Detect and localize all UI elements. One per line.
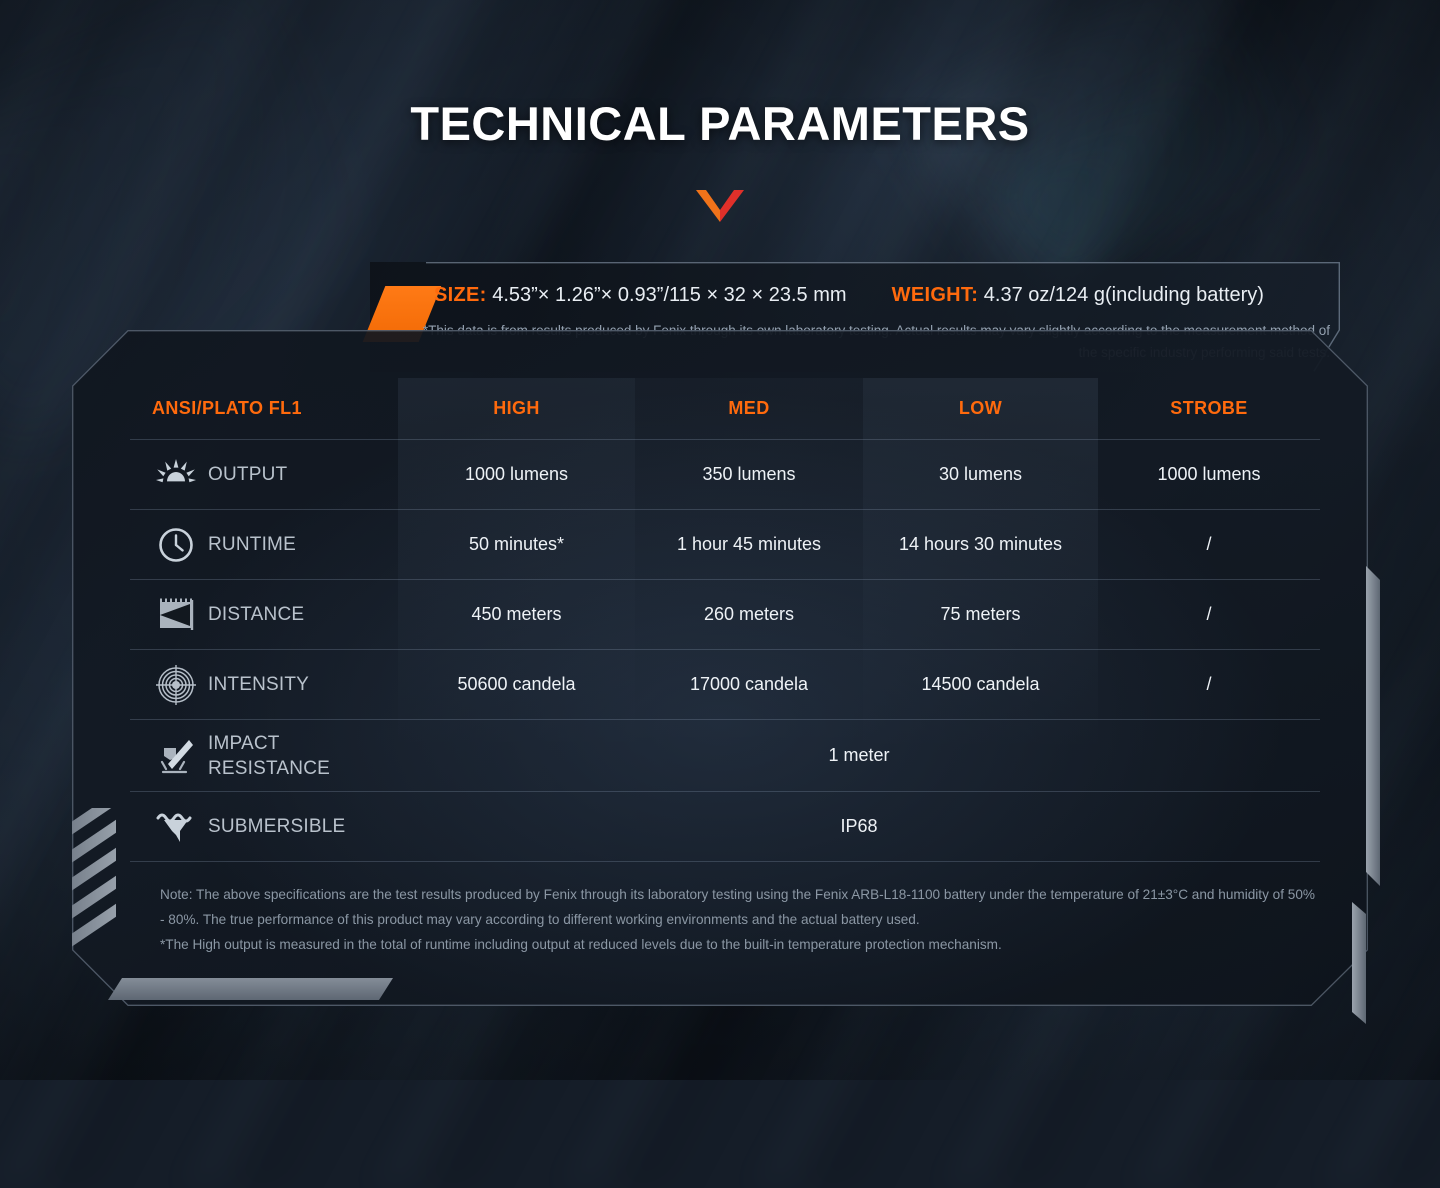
decorative-right-bar-upper bbox=[1366, 566, 1380, 886]
column-header-med: MED bbox=[635, 398, 863, 419]
row-label-distance: DISTANCE bbox=[130, 593, 398, 637]
size-value: 4.53”× 1.26”× 0.93”/115 × 32 × 23.5 mm bbox=[492, 284, 846, 306]
impact-drop-icon bbox=[144, 734, 208, 778]
footnote-line-1: Note: The above specifications are the t… bbox=[160, 882, 1315, 932]
cell-distance-low: 75 meters bbox=[863, 604, 1098, 625]
weight-label: WEIGHT: bbox=[892, 284, 979, 306]
specifications-panel: ANSI/PLATO FL1 HIGH MED LOW STROBE bbox=[72, 330, 1368, 1006]
table-row: INTENSITY 50600 candela 17000 candela 14… bbox=[130, 650, 1320, 720]
cell-output-low: 30 lumens bbox=[863, 464, 1098, 485]
submersible-icon bbox=[144, 805, 208, 849]
cell-intensity-high: 50600 candela bbox=[398, 674, 635, 695]
row-label-intensity: INTENSITY bbox=[130, 663, 398, 707]
cell-runtime-strobe: / bbox=[1098, 534, 1320, 555]
clock-icon bbox=[144, 523, 208, 567]
table-row: SUBMERSIBLE IP68 bbox=[130, 792, 1320, 862]
target-intensity-icon bbox=[144, 663, 208, 707]
row-label-text: DISTANCE bbox=[208, 602, 304, 627]
column-header-low: LOW bbox=[863, 398, 1098, 419]
row-label-text: RUNTIME bbox=[208, 532, 296, 557]
cell-intensity-med: 17000 candela bbox=[635, 674, 863, 695]
page-title: TECHNICAL PARAMETERS bbox=[0, 96, 1440, 151]
impact-label-line1: IMPACT bbox=[208, 733, 280, 754]
cell-output-high: 1000 lumens bbox=[398, 464, 635, 485]
decorative-hash-stripes bbox=[72, 808, 116, 948]
footnote-line-2: *The High output is measured in the tota… bbox=[160, 932, 1315, 957]
decorative-right-bar-lower bbox=[1352, 902, 1366, 1024]
cell-distance-strobe: / bbox=[1098, 604, 1320, 625]
beam-distance-icon bbox=[144, 593, 208, 637]
row-label-impact-resistance: IMPACT RESISTANCE bbox=[130, 731, 398, 781]
cell-output-med: 350 lumens bbox=[635, 464, 863, 485]
weight-value: 4.37 oz/124 g(including battery) bbox=[984, 284, 1264, 306]
cell-runtime-low: 14 hours 30 minutes bbox=[863, 534, 1098, 555]
table-row: IMPACT RESISTANCE 1 meter bbox=[130, 720, 1320, 792]
row-label-runtime: RUNTIME bbox=[130, 523, 398, 567]
column-header-ansi: ANSI/PLATO FL1 bbox=[130, 398, 398, 419]
banner-specs-line: SIZE: 4.53”× 1.26”× 0.93”/115 × 32 × 23.… bbox=[370, 284, 1328, 307]
specifications-table: ANSI/PLATO FL1 HIGH MED LOW STROBE bbox=[130, 378, 1320, 862]
row-label-text: SUBMERSIBLE bbox=[208, 814, 345, 839]
column-header-high: HIGH bbox=[398, 398, 635, 419]
cell-distance-high: 450 meters bbox=[398, 604, 635, 625]
table-row: DISTANCE 450 meters 260 meters 75 meters… bbox=[130, 580, 1320, 650]
table-row: RUNTIME 50 minutes* 1 hour 45 minutes 14… bbox=[130, 510, 1320, 580]
cell-distance-med: 260 meters bbox=[635, 604, 863, 625]
table-row: OUTPUT 1000 lumens 350 lumens 30 lumens … bbox=[130, 440, 1320, 510]
row-label-output: OUTPUT bbox=[130, 453, 398, 497]
cell-intensity-low: 14500 candela bbox=[863, 674, 1098, 695]
cell-runtime-high: 50 minutes* bbox=[398, 534, 635, 555]
sunburst-icon bbox=[144, 453, 208, 497]
column-header-strobe: STROBE bbox=[1098, 398, 1320, 419]
cell-impact-resistance-value: 1 meter bbox=[398, 745, 1320, 766]
decorative-bottom-bar bbox=[108, 978, 393, 1000]
chevron-down-icon bbox=[696, 188, 744, 222]
cell-output-strobe: 1000 lumens bbox=[1098, 464, 1320, 485]
row-label-text: IMPACT RESISTANCE bbox=[208, 731, 330, 781]
size-label: SIZE: bbox=[434, 284, 487, 306]
table-header-row: ANSI/PLATO FL1 HIGH MED LOW STROBE bbox=[130, 378, 1320, 440]
cell-submersible-value: IP68 bbox=[398, 816, 1320, 837]
cell-intensity-strobe: / bbox=[1098, 674, 1320, 695]
footnote-block: Note: The above specifications are the t… bbox=[160, 882, 1315, 957]
cell-runtime-med: 1 hour 45 minutes bbox=[635, 534, 863, 555]
row-label-text: OUTPUT bbox=[208, 462, 287, 487]
row-label-submersible: SUBMERSIBLE bbox=[130, 805, 398, 849]
impact-label-line2: RESISTANCE bbox=[208, 758, 330, 779]
row-label-text: INTENSITY bbox=[208, 672, 309, 697]
